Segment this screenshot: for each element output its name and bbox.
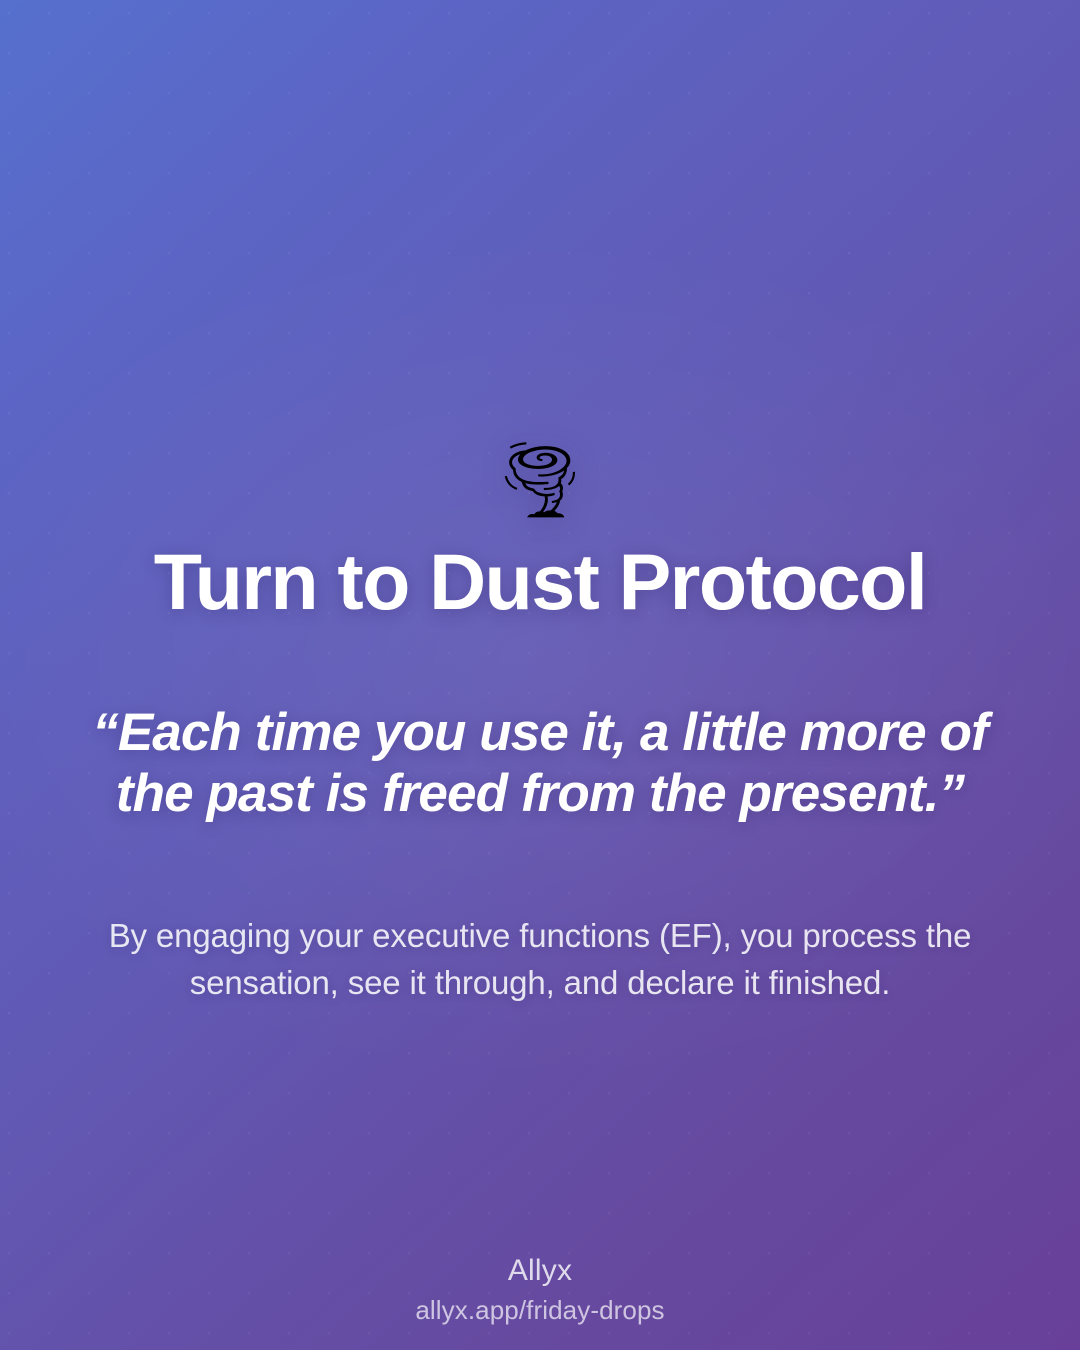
footer: Allyx allyx.app/friday-drops	[0, 1252, 1080, 1326]
hero-emoji-block: 🌪	[493, 432, 587, 528]
tornado-icon: 🌪	[493, 443, 587, 517]
card-content: 🌪 Turn to Dust Protocol “Each time you u…	[0, 0, 1080, 1350]
page-title: Turn to Dust Protocol	[154, 542, 926, 623]
body-copy: By engaging your executive functions (EF…	[90, 913, 990, 1007]
brand-name: Allyx	[508, 1252, 572, 1290]
social-card: 🌪 Turn to Dust Protocol “Each time you u…	[0, 0, 1080, 1350]
pull-quote: “Each time you use it, a little more of …	[90, 702, 990, 825]
brand-url: allyx.app/friday-drops	[415, 1294, 664, 1327]
